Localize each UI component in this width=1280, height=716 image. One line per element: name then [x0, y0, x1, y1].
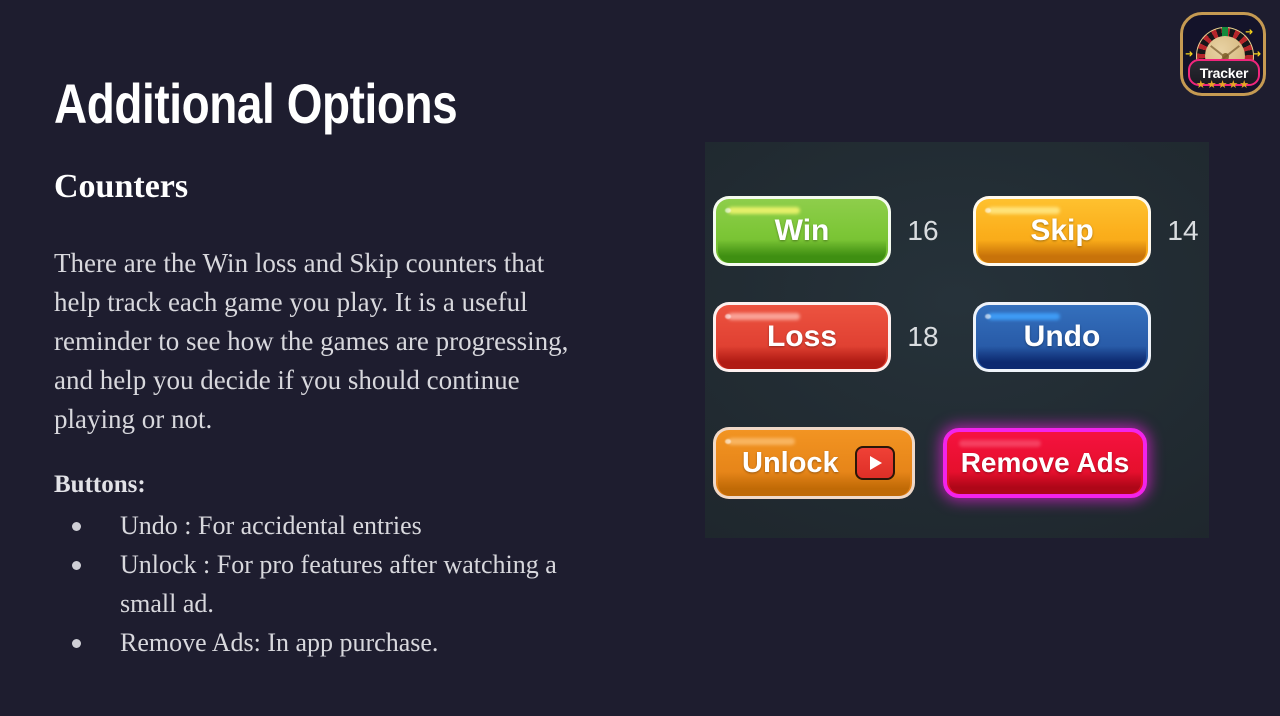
action-row-unlock-removeads: Unlock Remove Ads	[713, 427, 1147, 499]
play-video-icon	[855, 446, 895, 480]
counter-row-win-skip: Win 16 Skip 14	[713, 196, 1209, 266]
win-counter-value: 16	[891, 215, 955, 247]
skip-button[interactable]: Skip	[973, 196, 1151, 266]
button-gloss-icon	[959, 440, 1041, 447]
button-gloss-dot-icon	[725, 439, 731, 444]
button-gloss-icon	[728, 313, 800, 320]
unlock-button[interactable]: Unlock	[713, 427, 915, 499]
button-gloss-icon	[988, 313, 1060, 320]
win-cell: Win 16	[713, 196, 955, 266]
list-item: Unlock : For pro features after watching…	[54, 545, 614, 623]
button-gloss-dot-icon	[725, 314, 731, 319]
play-triangle-icon	[870, 456, 882, 470]
app-logo: ➜ ➜ ➜ Tracker ★★★★★	[1180, 12, 1266, 96]
logo-rating-stars: ★★★★★	[1183, 80, 1263, 91]
win-button[interactable]: Win	[713, 196, 891, 266]
loss-button-label: Loss	[767, 320, 837, 354]
list-item-label: Unlock : For pro features after watching…	[120, 550, 557, 618]
bullet-dot-icon	[72, 522, 81, 531]
bullet-dot-icon	[72, 639, 81, 648]
button-gloss-dot-icon	[985, 208, 991, 213]
button-gloss-icon	[728, 438, 795, 445]
button-gloss-dot-icon	[985, 314, 991, 319]
loss-button[interactable]: Loss	[713, 302, 891, 372]
skip-cell: Skip 14	[973, 196, 1209, 266]
list-item: Remove Ads: In app purchase.	[54, 623, 614, 662]
skip-counter-value: 14	[1151, 215, 1209, 247]
section-heading-counters: Counters	[54, 166, 188, 208]
slide: Additional Options Counters There are th…	[0, 0, 1280, 716]
buttons-bullet-list: Undo : For accidental entries Unlock : F…	[54, 506, 614, 662]
unlock-button-label: Unlock	[742, 447, 839, 480]
arrow-top-icon: ➜	[1245, 28, 1253, 38]
arrow-right-icon: ➜	[1253, 50, 1261, 60]
bullet-dot-icon	[72, 561, 81, 570]
button-gloss-dot-icon	[725, 208, 731, 213]
button-gloss-icon	[728, 207, 800, 214]
page-title: Additional Options	[54, 70, 457, 138]
loss-cell: Loss 18	[713, 302, 955, 372]
counters-description: There are the Win loss and Skip counters…	[54, 244, 574, 439]
buttons-label: Buttons:	[54, 470, 146, 500]
skip-button-label: Skip	[1030, 214, 1093, 248]
undo-button[interactable]: Undo	[973, 302, 1151, 372]
list-item: Undo : For accidental entries	[54, 506, 614, 545]
loss-counter-value: 18	[891, 321, 955, 353]
counter-row-loss-undo: Loss 18 Undo	[713, 302, 1209, 372]
win-button-label: Win	[775, 214, 830, 248]
arrow-left-icon: ➜	[1185, 50, 1193, 60]
app-screenshot-panel: Win 16 Skip 14 L	[705, 142, 1209, 538]
remove-ads-button[interactable]: Remove Ads	[943, 428, 1147, 498]
remove-ads-button-label: Remove Ads	[961, 447, 1130, 479]
undo-button-label: Undo	[1024, 320, 1101, 354]
list-item-label: Undo : For accidental entries	[120, 511, 422, 540]
list-item-label: Remove Ads: In app purchase.	[120, 628, 438, 657]
button-gloss-icon	[988, 207, 1060, 214]
undo-cell: Undo	[973, 302, 1209, 372]
